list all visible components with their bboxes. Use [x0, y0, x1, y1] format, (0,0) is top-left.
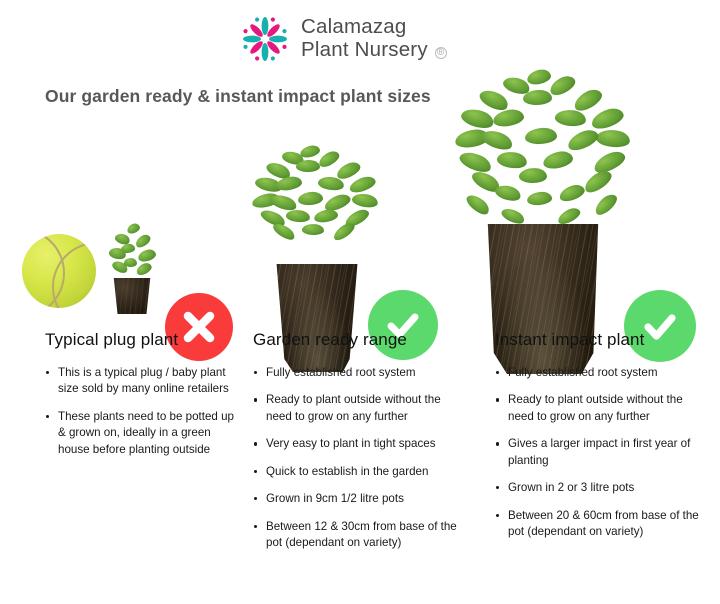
column-instant-impact-plant: Instant impact plant Fully established r… — [495, 330, 710, 552]
feature-list: Fully established root system Ready to p… — [253, 365, 468, 552]
brand-logo: Calamazag Plant Nursery ® — [240, 14, 447, 64]
instant-impact-plant-image — [455, 68, 630, 374]
list-item: These plants need to be potted up & grow… — [45, 409, 240, 458]
plug-plant-image — [105, 222, 160, 314]
tennis-ball-image — [22, 234, 96, 308]
list-item: Fully established root system — [253, 365, 468, 381]
list-item: Very easy to plant in tight spaces — [253, 436, 468, 452]
brand-line-2: Plant Nursery — [301, 39, 428, 62]
column-garden-ready-range: Garden ready range Fully established roo… — [253, 330, 468, 563]
list-item: Grown in 2 or 3 litre pots — [495, 480, 710, 496]
list-item: Grown in 9cm 1/2 litre pots — [253, 491, 468, 507]
column-title: Instant impact plant — [495, 330, 710, 350]
list-item: Between 20 & 60cm from base of the pot (… — [495, 508, 710, 541]
column-title: Garden ready range — [253, 330, 468, 350]
list-item: Ready to plant outside without the need … — [253, 392, 468, 425]
list-item: Quick to establish in the garden — [253, 464, 468, 480]
column-title: Typical plug plant — [45, 330, 240, 350]
plant-size-comparison-artwork — [0, 60, 720, 320]
flower-starburst-icon — [240, 14, 290, 64]
brand-wordmark: Calamazag Plant Nursery ® — [301, 16, 447, 62]
list-item: Gives a larger impact in first year of p… — [495, 436, 710, 469]
list-item: Ready to plant outside without the need … — [495, 392, 710, 425]
feature-list: Fully established root system Ready to p… — [495, 365, 710, 541]
list-item: This is a typical plug / baby plant size… — [45, 365, 240, 398]
brand-line-1: Calamazag — [301, 16, 447, 39]
list-item: Fully established root system — [495, 365, 710, 381]
registered-trademark-icon: ® — [435, 47, 447, 59]
feature-list: This is a typical plug / baby plant size… — [45, 365, 240, 458]
column-typical-plug-plant: Typical plug plant This is a typical plu… — [45, 330, 240, 469]
list-item: Between 12 & 30cm from base of the pot (… — [253, 519, 468, 552]
infographic-page: Calamazag Plant Nursery ® Our garden rea… — [0, 0, 720, 604]
